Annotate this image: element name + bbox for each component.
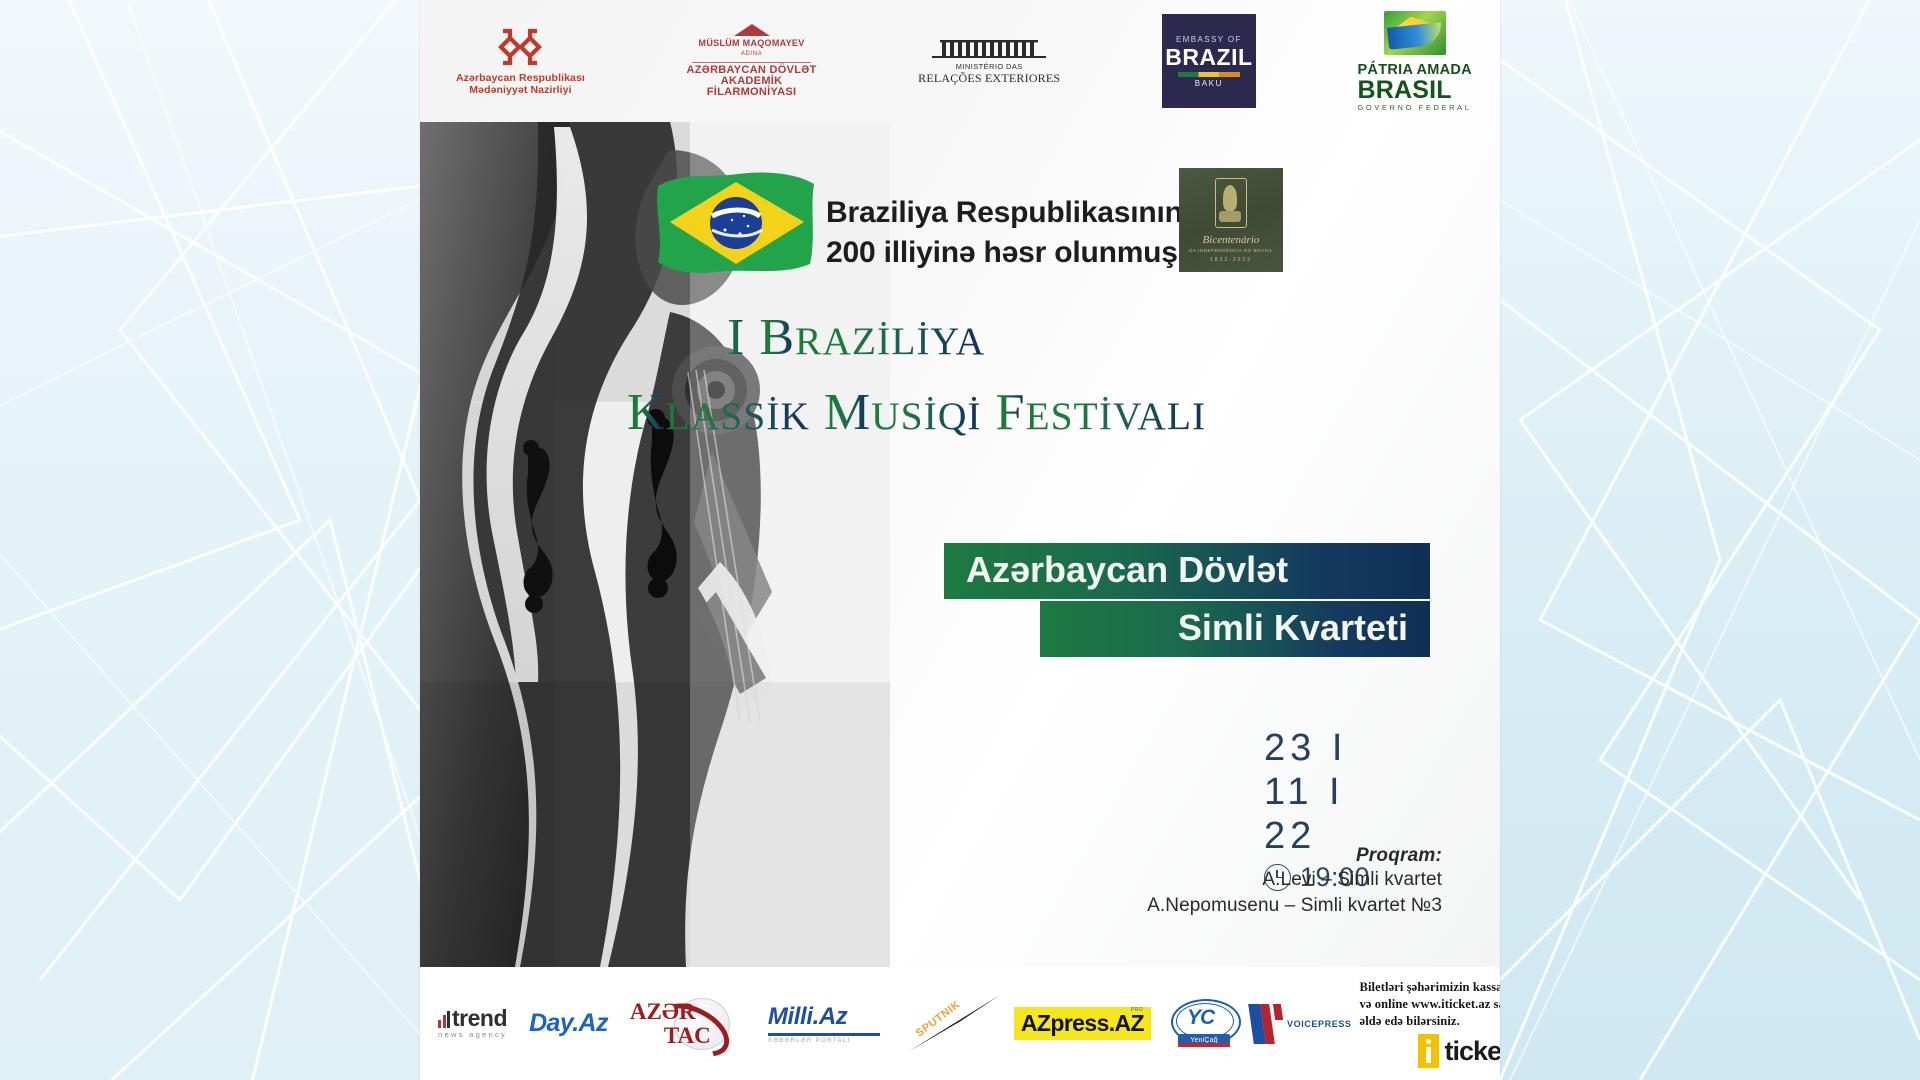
sponsor-logo-day-az[interactable]: Day.Az bbox=[529, 1009, 608, 1038]
ensemble-banner-line-1: Azərbaycan Dövlət bbox=[944, 543, 1430, 599]
sponsor-sublabel: news agency bbox=[438, 1030, 507, 1039]
brazil-flag-bar-icon bbox=[1178, 72, 1240, 77]
sponsor-bar: trend news agency Day.Az AZƏR TAC Milli.… bbox=[420, 967, 1500, 1080]
iticket-logo[interactable]: ticket . az bbox=[1418, 1034, 1500, 1068]
sponsor-logo-yenicag[interactable]: YC YeniÇağ bbox=[1171, 995, 1237, 1053]
brasil-government-flag-icon bbox=[1384, 11, 1446, 55]
buta-knot-icon bbox=[491, 26, 549, 68]
festival-title-line-2: KLASSİK MUSİQİ FESTİVALI bbox=[627, 383, 1206, 442]
ensemble-banner-line-2: Simli Kvarteti bbox=[1040, 601, 1430, 657]
philharmonic-dome-icon bbox=[726, 24, 778, 37]
sponsor-label: AZƏR bbox=[630, 999, 696, 1025]
voicepress-mark-icon bbox=[1251, 1004, 1285, 1044]
title-word-4-rest: ESTİVALI bbox=[1025, 394, 1206, 438]
title-word-1-lead: B bbox=[759, 309, 795, 366]
ticket-info-line-2: və online www.iticket.az saytından bbox=[1360, 996, 1500, 1013]
title-numeral: I bbox=[727, 309, 745, 366]
program-block: Proqram: A.Levi – Simli kvartet A.Nepomu… bbox=[1147, 845, 1442, 919]
sponsor-label: SPUTNIK bbox=[914, 998, 963, 1039]
ticket-info-line-1: Biletləri şəhərimizin kassalarından bbox=[1360, 979, 1500, 996]
iticket-mark-icon bbox=[1418, 1034, 1439, 1068]
sponsor-label2: TAC bbox=[664, 1023, 711, 1049]
logo-label-line0b: ADINA bbox=[741, 49, 762, 60]
logo-label-line1: EMBASSY OF bbox=[1176, 35, 1242, 44]
sponsor-label: Milli.Az bbox=[768, 1003, 847, 1031]
program-item: A.Levi – Simli kvartet bbox=[1147, 867, 1442, 893]
sponsor-sublabel: PRO bbox=[1131, 1007, 1143, 1013]
sponsor-logo-azertac[interactable]: AZƏR TAC bbox=[630, 996, 750, 1052]
logo-patria-amada-brasil: PÁTRIA AMADA BRASIL GOVERNO FEDERAL bbox=[1357, 11, 1472, 112]
sponsor-label: VOICEPRESS bbox=[1287, 1019, 1352, 1029]
sponsor-logo-trend[interactable]: trend news agency bbox=[438, 1008, 507, 1039]
logo-label-line3: FİLARMONİYASI bbox=[707, 87, 797, 98]
event-poster: Azərbaycan Respublikası Mədəniyyət Nazir… bbox=[420, 0, 1500, 1080]
brazil-flag-brushstroke-icon bbox=[652, 168, 820, 280]
logo-label-line3: GOVERNO FEDERAL bbox=[1357, 103, 1472, 112]
trend-bars-icon bbox=[438, 1011, 450, 1028]
seal-figure-icon bbox=[1215, 178, 1247, 228]
sponsor-sublabel: XƏBƏRLƏR PORTALI bbox=[768, 1038, 851, 1044]
logo-label-line3: BAKU bbox=[1195, 79, 1223, 88]
logo-muslum-magomayev-philharmonic: MÜSLÜM MAQOMAYEV ADINA AZƏRBAYCAN DÖVLƏT… bbox=[687, 24, 817, 98]
logo-ministerio-relacoes-exteriores: MINISTÉRIO DAS RELAÇÕES EXTERIORES bbox=[918, 37, 1060, 86]
sponsor-logo-milli-az[interactable]: Milli.Az XƏBƏRLƏR PORTALI bbox=[768, 1003, 880, 1044]
sponsor-logo-azpress-az[interactable]: PRO AZpress.AZ bbox=[1014, 1007, 1151, 1040]
logo-divider bbox=[692, 62, 812, 63]
logo-label-line2: Mədəniyyət Nazirliyi bbox=[469, 84, 571, 96]
logo-azerbaijan-ministry-of-culture: Azərbaycan Respublikası Mədəniyyət Nazir… bbox=[456, 26, 585, 96]
program-item: A.Nepomusenu – Simli kvartet №3 bbox=[1147, 893, 1442, 919]
sponsor-sublabel: YeniÇağ bbox=[1178, 1034, 1230, 1047]
program-heading: Proqram: bbox=[1147, 845, 1442, 867]
sponsor-label: AZpress.AZ bbox=[1021, 1010, 1144, 1037]
title-word-1-rest: RAZİLİYA bbox=[795, 319, 985, 363]
bicentenario-seal: Bicentenário DA INDEPENDÊNCIA DO BRASIL … bbox=[1179, 168, 1283, 272]
sponsor-logo-sputnik[interactable]: SPUTNIK bbox=[902, 993, 1000, 1055]
logo-label-line2: BRASIL bbox=[1357, 78, 1472, 103]
dedication-line-1: Braziliya Respublikasının bbox=[826, 193, 1183, 233]
logo-embassy-of-brazil-baku: EMBASSY OF BRAZIL BAKU bbox=[1162, 14, 1256, 108]
ticket-info-block: Biletləri şəhərimizin kassalarından və o… bbox=[1360, 979, 1500, 1068]
sponsor-logo-voicepress[interactable]: VOICEPRESS bbox=[1251, 1004, 1352, 1044]
partner-logo-strip: Azərbaycan Respublikası Mədəniyyət Nazir… bbox=[420, 0, 1500, 122]
ticket-info-line-3: əldə edə bilərsiniz. bbox=[1360, 1013, 1460, 1030]
logo-label-line2: BRAZIL bbox=[1165, 46, 1252, 69]
title-word-3-rest: USİQİ bbox=[871, 394, 981, 438]
logo-label-line1: Azərbaycan Respublikası bbox=[456, 72, 585, 84]
sponsor-label: trend bbox=[452, 1008, 507, 1028]
underline-rule bbox=[768, 1033, 880, 1036]
seal-years: 1822-2022 bbox=[1210, 257, 1252, 263]
seal-script: Bicentenário bbox=[1203, 234, 1260, 246]
title-word-3-lead: M bbox=[824, 384, 871, 441]
itamaraty-columns-icon bbox=[930, 37, 1048, 59]
iticket-label: ticket bbox=[1445, 1038, 1500, 1065]
title-word-2-rest: LASSİK bbox=[666, 394, 810, 438]
dedication-line-2: 200 illiyinə həsr olunmuş bbox=[826, 233, 1178, 273]
sponsor-label: YC bbox=[1187, 1006, 1214, 1030]
logo-label-line2: RELAÇÕES EXTERIORES bbox=[918, 71, 1060, 86]
event-date: 23 I 11 I 22 bbox=[1264, 726, 1382, 858]
title-word-2-lead: K bbox=[627, 384, 666, 441]
seal-subtitle: DA INDEPENDÊNCIA DO BRASIL bbox=[1189, 248, 1273, 253]
title-word-4-lead: F bbox=[996, 384, 1026, 441]
logo-label-line0: MÜSLÜM MAQOMAYEV bbox=[699, 38, 805, 49]
logo-label-line1: MINISTÉRIO DAS bbox=[956, 62, 1023, 71]
festival-title-line-1: I BRAZİLİYA bbox=[727, 308, 985, 367]
